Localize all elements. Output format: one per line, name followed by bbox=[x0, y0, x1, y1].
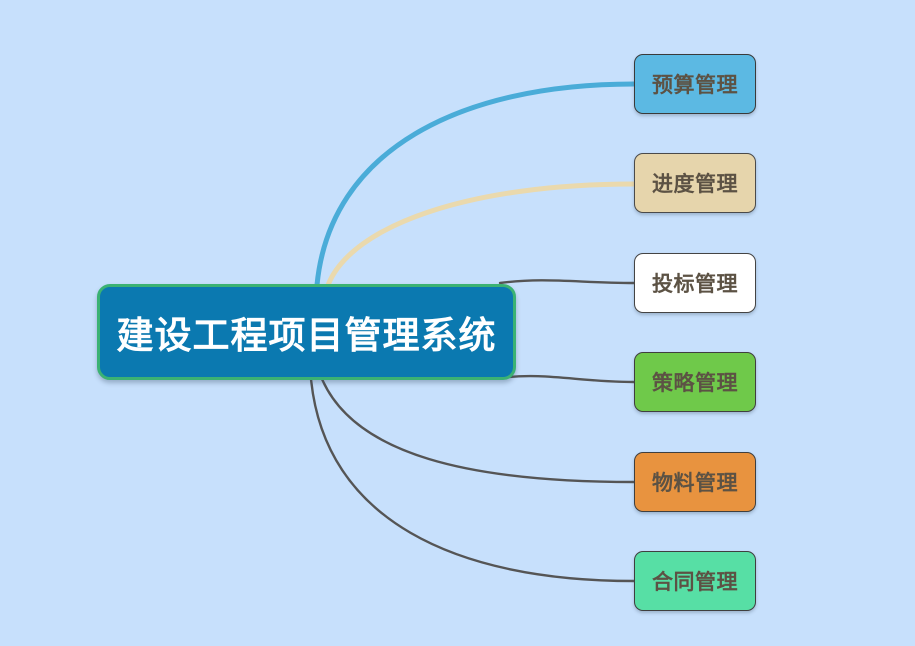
branch-node-contract[interactable]: 合同管理 bbox=[634, 551, 756, 611]
edge-to-strategy bbox=[500, 376, 634, 382]
root-node[interactable]: 建设工程项目管理系统 bbox=[97, 284, 516, 380]
branch-node-label: 策略管理 bbox=[652, 367, 738, 397]
edge-to-contract bbox=[311, 379, 634, 581]
edge-to-schedule bbox=[328, 184, 634, 285]
branch-node-label: 预算管理 bbox=[652, 69, 738, 99]
edge-to-bidding bbox=[500, 280, 634, 283]
branch-node-label: 投标管理 bbox=[652, 268, 738, 298]
branch-node-schedule[interactable]: 进度管理 bbox=[634, 153, 756, 213]
branch-node-label: 进度管理 bbox=[652, 168, 738, 198]
branch-node-label: 物料管理 bbox=[652, 467, 738, 497]
branch-node-budget[interactable]: 预算管理 bbox=[634, 54, 756, 114]
branch-node-material[interactable]: 物料管理 bbox=[634, 452, 756, 512]
edge-to-material bbox=[322, 379, 634, 482]
branch-node-bidding[interactable]: 投标管理 bbox=[634, 253, 756, 313]
edge-to-budget bbox=[317, 84, 634, 285]
root-node-label: 建设工程项目管理系统 bbox=[117, 305, 497, 359]
branch-node-label: 合同管理 bbox=[652, 566, 738, 596]
branch-node-strategy[interactable]: 策略管理 bbox=[634, 352, 756, 412]
mindmap-canvas: 建设工程项目管理系统 预算管理 进度管理 投标管理 策略管理 物料管理 合同管理 bbox=[0, 0, 915, 646]
